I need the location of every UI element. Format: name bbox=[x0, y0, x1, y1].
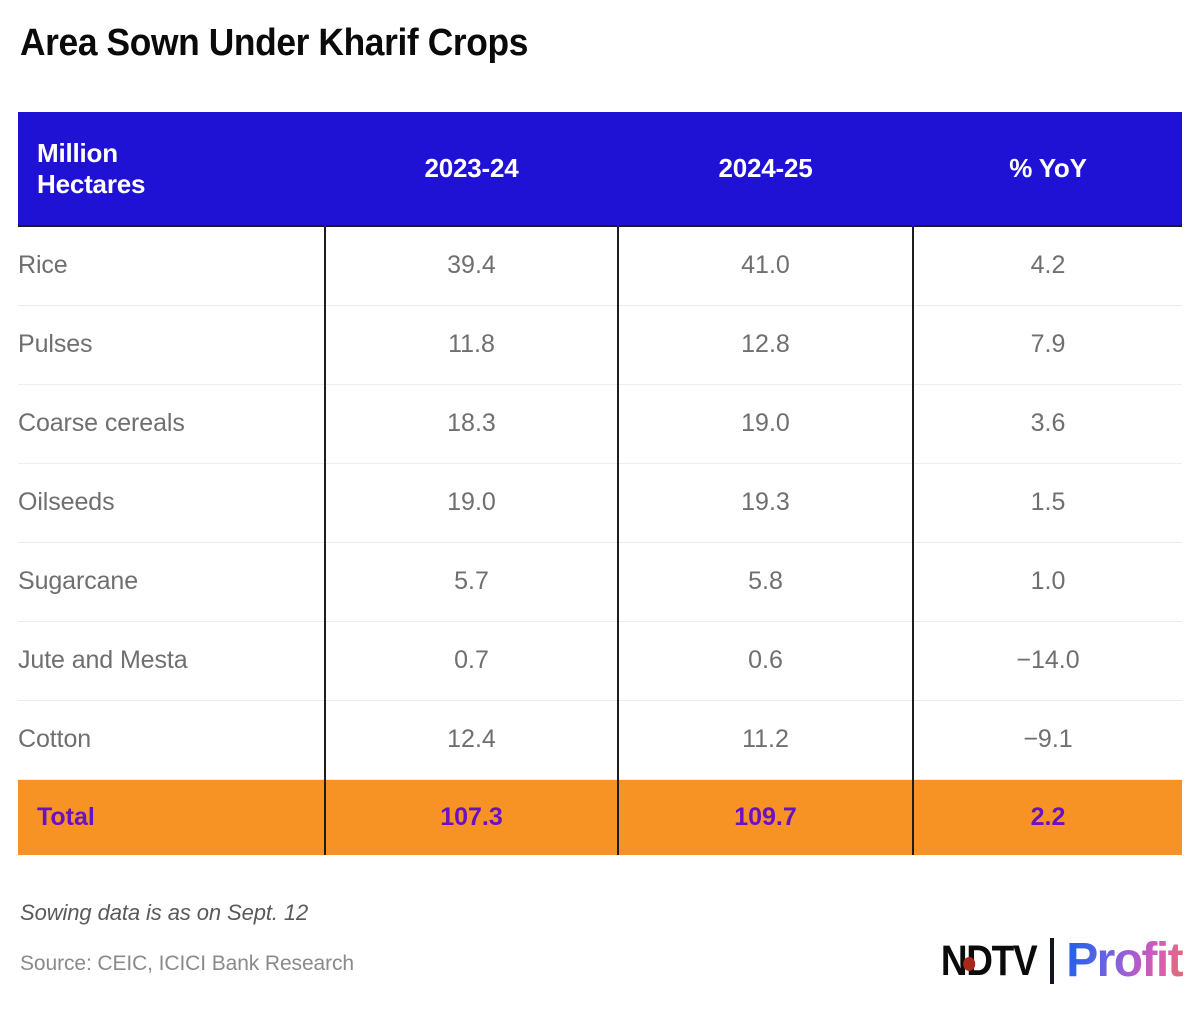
total-yoy: 2.2 bbox=[913, 779, 1182, 855]
cell-2024-25-4: 5.8 bbox=[618, 542, 913, 621]
cell-2024-25-2: 19.0 bbox=[618, 384, 913, 463]
unit-line-1: Million bbox=[37, 138, 324, 169]
table-row: Rice39.441.04.2 bbox=[18, 226, 1182, 305]
cell-yoy-3: 1.5 bbox=[913, 463, 1182, 542]
footnote: Sowing data is as on Sept. 12 bbox=[20, 900, 308, 926]
row-label-1: Pulses bbox=[18, 305, 325, 384]
source-credit: Source: CEIC, ICICI Bank Research bbox=[20, 952, 354, 976]
cell-2024-25-0: 41.0 bbox=[618, 226, 913, 305]
table-row: Coarse cereals18.319.03.6 bbox=[18, 384, 1182, 463]
row-label-3: Oilseeds bbox=[18, 463, 325, 542]
table-total-row: Total107.3109.72.2 bbox=[18, 779, 1182, 855]
cell-2024-25-1: 12.8 bbox=[618, 305, 913, 384]
cell-2024-25-5: 0.6 bbox=[618, 621, 913, 700]
cell-2023-24-0: 39.4 bbox=[325, 226, 618, 305]
table-row: Oilseeds19.019.31.5 bbox=[18, 463, 1182, 542]
total-2024-25: 109.7 bbox=[618, 779, 913, 855]
cell-2023-24-5: 0.7 bbox=[325, 621, 618, 700]
cell-yoy-4: 1.0 bbox=[913, 542, 1182, 621]
cell-2023-24-2: 18.3 bbox=[325, 384, 618, 463]
row-label-2: Coarse cereals bbox=[18, 384, 325, 463]
table-row: Jute and Mesta0.70.6−14.0 bbox=[18, 621, 1182, 700]
cell-yoy-5: −14.0 bbox=[913, 621, 1182, 700]
cell-2023-24-6: 12.4 bbox=[325, 700, 618, 779]
column-header-unit: Million Hectares bbox=[18, 112, 325, 226]
cell-2024-25-6: 11.2 bbox=[618, 700, 913, 779]
cell-2023-24-4: 5.7 bbox=[325, 542, 618, 621]
cell-yoy-1: 7.9 bbox=[913, 305, 1182, 384]
page-title: Area Sown Under Kharif Crops bbox=[20, 22, 528, 66]
row-label-0: Rice bbox=[18, 226, 325, 305]
table-row: Sugarcane5.75.81.0 bbox=[18, 542, 1182, 621]
table-header: Million Hectares 2023-24 2024-25 % YoY bbox=[18, 112, 1182, 226]
cell-yoy-2: 3.6 bbox=[913, 384, 1182, 463]
column-header-2023-24: 2023-24 bbox=[325, 112, 618, 226]
cell-2023-24-1: 11.8 bbox=[325, 305, 618, 384]
ndtv-wordmark: NDTV bbox=[941, 940, 1038, 983]
table-body: Rice39.441.04.2Pulses11.812.87.9Coarse c… bbox=[18, 226, 1182, 855]
cell-yoy-6: −9.1 bbox=[913, 700, 1182, 779]
total-label: Total bbox=[18, 779, 325, 855]
table-header-row: Million Hectares 2023-24 2024-25 % YoY bbox=[18, 112, 1182, 226]
cell-2024-25-3: 19.3 bbox=[618, 463, 913, 542]
logo-divider-bar-icon bbox=[1050, 938, 1054, 984]
profit-wordmark: Profit bbox=[1066, 937, 1186, 985]
infographic-table-page: Area Sown Under Kharif Crops Million Hec… bbox=[0, 0, 1200, 1014]
row-label-4: Sugarcane bbox=[18, 542, 325, 621]
row-label-5: Jute and Mesta bbox=[18, 621, 325, 700]
table-row: Pulses11.812.87.9 bbox=[18, 305, 1182, 384]
kharif-crops-table-container: Million Hectares 2023-24 2024-25 % YoY R… bbox=[18, 112, 1182, 855]
ndtv-profit-logo: NDTV Profit bbox=[925, 930, 1186, 992]
cell-2023-24-3: 19.0 bbox=[325, 463, 618, 542]
cell-yoy-0: 4.2 bbox=[913, 226, 1182, 305]
column-header-yoy: % YoY bbox=[913, 112, 1182, 226]
column-header-2024-25: 2024-25 bbox=[618, 112, 913, 226]
ndtv-text: NDTV bbox=[941, 937, 1037, 985]
table-row: Cotton12.411.2−9.1 bbox=[18, 700, 1182, 779]
total-2023-24: 107.3 bbox=[325, 779, 618, 855]
kharif-crops-table: Million Hectares 2023-24 2024-25 % YoY R… bbox=[18, 112, 1182, 855]
row-label-6: Cotton bbox=[18, 700, 325, 779]
unit-line-2: Hectares bbox=[37, 169, 324, 200]
